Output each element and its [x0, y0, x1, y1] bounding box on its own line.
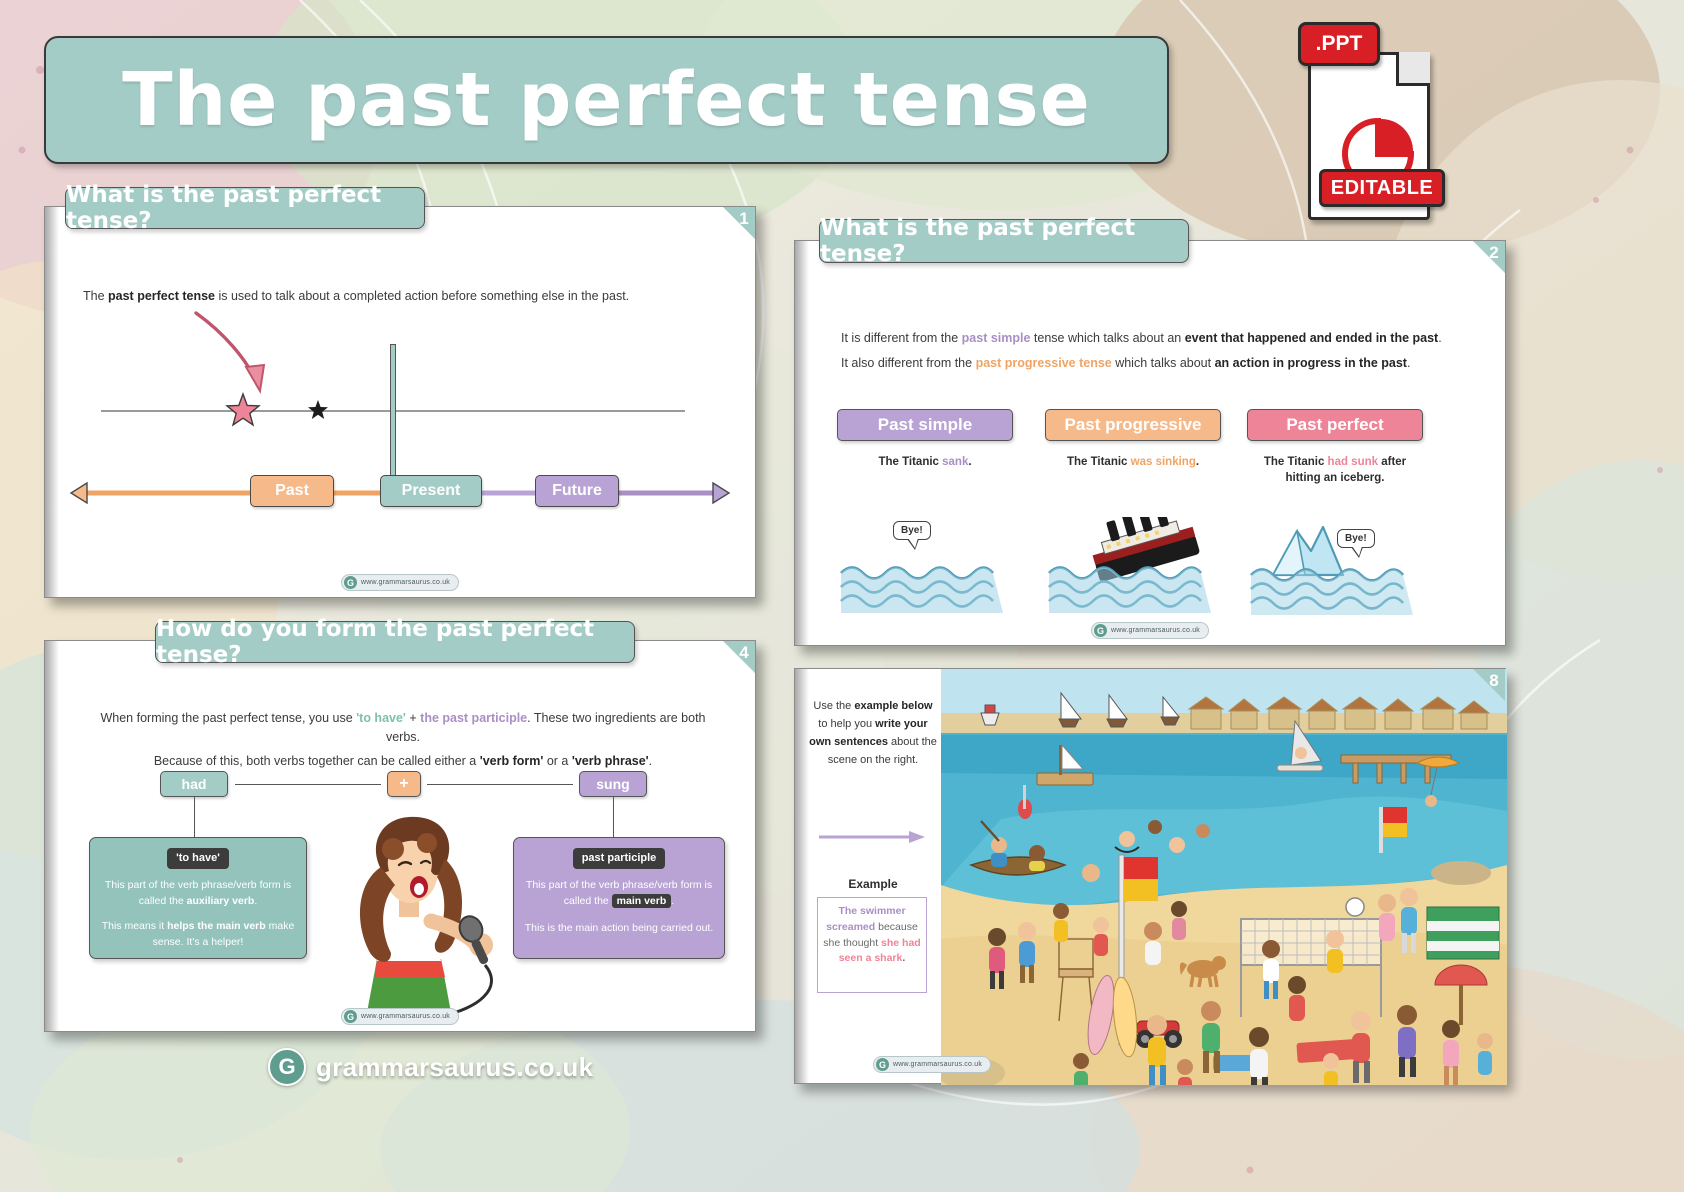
timeline-chip-past: Past — [250, 475, 334, 507]
iceberg-illustration — [1247, 521, 1423, 627]
aux-p1-bold: auxiliary verb — [187, 895, 255, 907]
timeline-chip-future: Future — [535, 475, 619, 507]
drop-line-right — [613, 797, 614, 839]
tense-column-past-progressive: Past progressive The Titanic was sinking… — [1045, 409, 1221, 471]
s1-h: was sinking — [1131, 456, 1196, 468]
chip-past-simple: Past simple — [837, 409, 1013, 441]
slide-4-title: How do you form the past perfect tense? — [155, 621, 635, 663]
intro-bold: past perfect tense — [108, 289, 215, 303]
chip-past-perfect: Past perfect — [1247, 409, 1423, 441]
part-paragraph-2: This is the main action being carried ou… — [522, 920, 716, 936]
l2-c: . — [1407, 356, 1410, 370]
p2-bold1: 'verb form' — [480, 754, 544, 768]
slide-number: 2 — [1473, 241, 1505, 273]
p1-a: When forming the past perfect tense, you… — [100, 711, 356, 725]
auxiliary-verb-box: 'to have' This part of the verb phrase/v… — [89, 837, 307, 959]
editable-label: EDITABLE — [1319, 169, 1445, 207]
tag-past-participle: past participle — [573, 848, 666, 869]
p2-bold2: 'verb phrase' — [572, 754, 649, 768]
sinking-ship-illustration — [1045, 517, 1221, 627]
slide-shadow — [795, 669, 809, 1083]
aux-p2-a: This means it — [102, 920, 167, 932]
formula-connector-left — [235, 784, 381, 785]
footer-logo: G www.grammarsaurus.co.uk — [1091, 622, 1209, 639]
slide-shadow — [45, 641, 59, 1031]
part-paragraph-1: This part of the verb phrase/verb form i… — [522, 877, 716, 910]
s2-h: had sunk — [1328, 456, 1378, 468]
slide-2-paragraphs: It is different from the past simple ten… — [841, 329, 1461, 374]
singer-illustration — [295, 809, 527, 1027]
slide-2[interactable]: 2 What is the past perfect tense? It is … — [794, 240, 1506, 646]
slide-8[interactable]: 8 Use the example below to help you writ… — [794, 668, 1506, 1084]
l1-a: It is different from the — [841, 331, 962, 345]
present-marker-line — [390, 344, 396, 486]
slide-shadow — [45, 207, 59, 597]
l2-highlight: past progressive tense — [976, 356, 1112, 370]
footer-url: www.grammarsaurus.co.uk — [361, 1013, 450, 1020]
slide-4-line-1: When forming the past perfect tense, you… — [85, 709, 721, 748]
tag-to-have: 'to have' — [167, 848, 229, 869]
logo-initial: G — [876, 1058, 889, 1071]
formula-connector-right — [427, 784, 573, 785]
footer-logo: G www.grammarsaurus.co.uk — [341, 574, 459, 591]
l1-highlight: past simple — [962, 331, 1031, 345]
page-title: The past perfect tense — [122, 57, 1091, 143]
p2-a: Because of this, both verbs together can… — [154, 754, 480, 768]
p2-b: or a — [543, 754, 572, 768]
p1-green: 'to have' — [356, 711, 406, 725]
black-star-marker — [307, 399, 329, 421]
slide-2-line-2: It also different from the past progress… — [841, 354, 1461, 373]
slide-2-line-1: It is different from the past simple ten… — [841, 329, 1461, 348]
grammarsaurus-brand: G grammarsaurus.co.uk — [268, 1048, 593, 1086]
ins-a: Use the — [813, 700, 854, 712]
tense-column-past-simple: Past simple The Titanic sank. — [837, 409, 1013, 471]
ppt-editable-badge: EDITABLE .PPT — [1298, 22, 1438, 222]
p1-purple: the past participle — [420, 711, 527, 725]
timeline-chip-present: Present — [380, 475, 482, 507]
brand-name: grammarsaurus.co.uk — [316, 1052, 593, 1083]
l1-bold: event that happened and ended in the pas… — [1185, 331, 1439, 345]
example-label: Example — [809, 877, 937, 891]
calm-sea-illustration — [837, 557, 1013, 627]
s1-a: The Titanic — [1067, 456, 1131, 468]
s0-b: . — [968, 456, 971, 468]
l2-bold: an action in progress in the past — [1215, 356, 1407, 370]
slide-1[interactable]: 1 What is the past perfect tense? The pa… — [44, 206, 756, 598]
slide-number: 4 — [723, 641, 755, 673]
beach-scene-illustration — [941, 669, 1507, 1085]
logo-initial: G — [1094, 624, 1107, 637]
s2-a: The Titanic — [1264, 456, 1328, 468]
formula-chip-sung: sung — [579, 771, 647, 797]
footer-url: www.grammarsaurus.co.uk — [361, 579, 450, 586]
formula-chip-had: had — [160, 771, 228, 797]
slide-4-paragraphs: When forming the past perfect tense, you… — [85, 709, 721, 771]
aux-paragraph-2: This means it helps the main verb make s… — [98, 918, 298, 951]
logo-initial: G — [344, 576, 357, 589]
slide-number: 1 — [723, 207, 755, 239]
chip-past-progressive: Past progressive — [1045, 409, 1221, 441]
footer-logo: G www.grammarsaurus.co.uk — [873, 1056, 991, 1073]
slide-8-instructions: Use the example below to help you write … — [809, 697, 937, 770]
drop-line-left — [194, 797, 195, 839]
part-p1-b: . — [671, 895, 674, 907]
s1-b: . — [1196, 456, 1199, 468]
footer-url: www.grammarsaurus.co.uk — [893, 1061, 982, 1068]
formula-operator-plus: + — [387, 771, 421, 797]
curved-arrow-icon — [190, 307, 310, 399]
example-sentence-box: The swimmer screamed because she thought… — [817, 897, 927, 993]
page-fold-corner — [1396, 52, 1430, 86]
speech-bubble-1: Bye! — [893, 521, 931, 540]
tense-column-past-perfect: Past perfect The Titanic had sunk after … — [1247, 409, 1423, 486]
l1-c: . — [1438, 331, 1441, 345]
right-arrow-icon — [817, 829, 927, 845]
ins-b: to help you — [818, 718, 875, 730]
brand-logo-icon: G — [268, 1048, 306, 1086]
p2-c: . — [649, 754, 652, 768]
slide-shadow — [795, 241, 809, 645]
s0-h: sank — [942, 456, 968, 468]
s0-a: The Titanic — [878, 456, 942, 468]
ins-b1: example below — [854, 700, 932, 712]
slide-1-title: What is the past perfect tense? — [65, 187, 425, 229]
footer-url: www.grammarsaurus.co.uk — [1111, 627, 1200, 634]
page-title-banner: The past perfect tense — [44, 36, 1169, 164]
instruction-text: Use the example below to help you write … — [809, 697, 937, 770]
l2-a: It also different from the — [841, 356, 976, 370]
footer-logo: G www.grammarsaurus.co.uk — [341, 1008, 459, 1025]
l2-b: which talks about — [1112, 356, 1215, 370]
slide-4[interactable]: 4 How do you form the past perfect tense… — [44, 640, 756, 1032]
sentence-past-perfect: The Titanic had sunk after hitting an ic… — [1247, 455, 1423, 486]
intro-prefix: The — [83, 289, 108, 303]
aux-p1-b: . — [254, 895, 257, 907]
l1-b: tense which talks about an — [1030, 331, 1184, 345]
slide-1-intro-text: The past perfect tense is used to talk a… — [83, 287, 723, 306]
past-participle-box: past participle This part of the verb ph… — [513, 837, 725, 959]
aux-p2-bold: helps the main verb — [167, 920, 266, 932]
ex-p4: . — [902, 952, 905, 964]
timeline-chip-row: Past Present Future — [65, 475, 737, 515]
aux-paragraph-1: This part of the verb phrase/verb form i… — [98, 877, 298, 910]
part-p1-chip: main verb — [612, 894, 672, 908]
sentence-past-progressive: The Titanic was sinking. — [1045, 455, 1221, 471]
format-label: .PPT — [1298, 22, 1380, 66]
slide-4-line-2: Because of this, both verbs together can… — [85, 752, 721, 771]
logo-initial: G — [344, 1010, 357, 1023]
slide-2-title: What is the past perfect tense? — [819, 219, 1189, 263]
intro-suffix: is used to talk about a completed action… — [215, 289, 629, 303]
document-sheet: EDITABLE — [1308, 52, 1430, 220]
sentence-past-simple: The Titanic sank. — [837, 455, 1013, 471]
p1-b: + — [406, 711, 420, 725]
pink-star-marker — [225, 392, 261, 428]
